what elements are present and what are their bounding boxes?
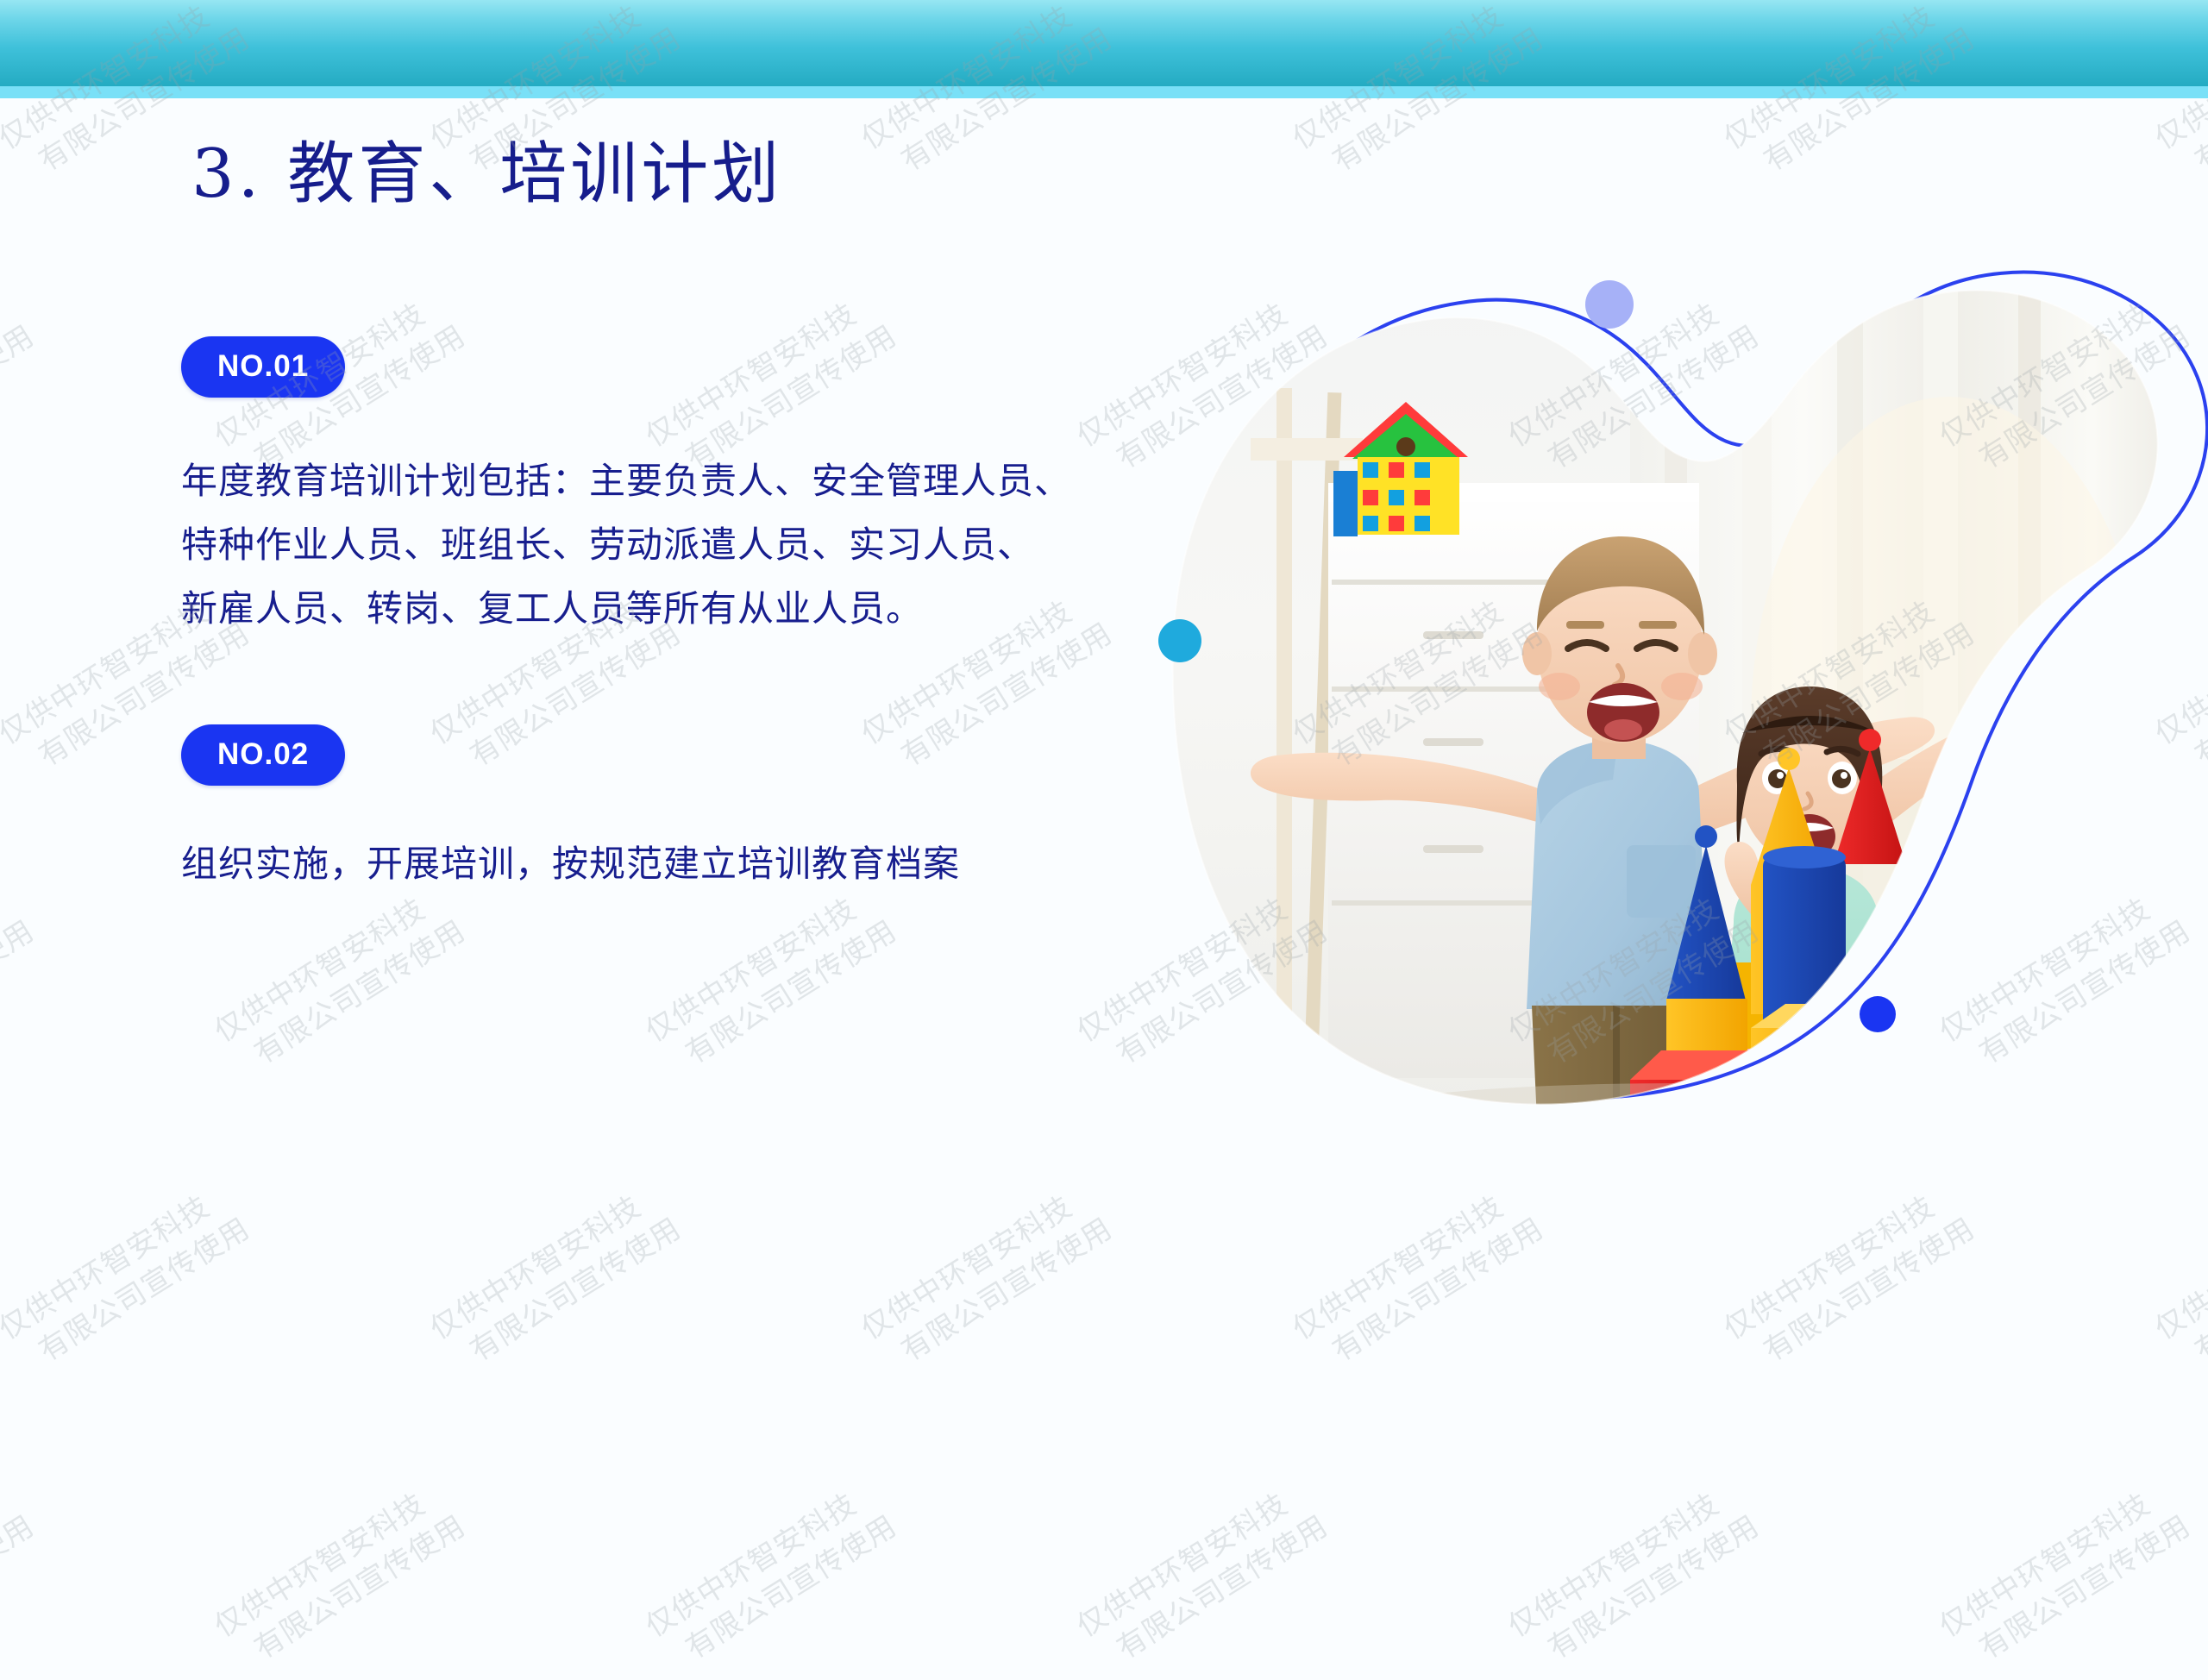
watermark-text: 仅供中环智安科技有限公司宣传使用: [1069, 1473, 1335, 1680]
watermark-text: 仅供中环智安科技有限公司宣传使用: [638, 878, 904, 1085]
content-text-2: 组织实施，开展培训，按规范建立培训教育档案: [181, 832, 960, 896]
watermark-text: 仅供中环智安科技有限公司宣传使用: [423, 1175, 688, 1382]
watermark-text: 仅供中环智安科技有限公司宣传使用: [1285, 1175, 1551, 1382]
cyan-circle-icon: [1158, 619, 1201, 662]
badge-no-01[interactable]: NO.01: [181, 336, 345, 398]
watermark-text: 仅供中环智安科技有限公司宣传使用: [0, 283, 41, 490]
watermark-text: 仅供中环智安科技有限公司宣传使用: [638, 1473, 904, 1680]
top-gradient-banner: [0, 0, 2208, 86]
watermark-text: 仅供中环智安科技有限公司宣传使用: [207, 878, 473, 1085]
page-title: 3. 教育、培训计划: [191, 138, 782, 212]
watermark-text: 仅供中环智安科技有限公司宣传使用: [0, 1473, 41, 1680]
watermark-text: 仅供中环智安科技有限公司宣传使用: [1501, 1473, 1766, 1680]
content-block-1: NO.01 年度教育培训计划包括：主要负责人、安全管理人员、 特种作业人员、班组…: [181, 336, 1071, 641]
watermark-text: 仅供中环智安科技有限公司宣传使用: [854, 1175, 1120, 1382]
decorative-photo-graphic: [1147, 241, 2208, 1121]
watermark-text: 仅供中环智安科技有限公司宣传使用: [0, 1175, 257, 1382]
top-banner-underline: [0, 86, 2208, 98]
watermark-text: 仅供中环智安科技有限公司宣传使用: [207, 1473, 473, 1680]
blob-photo-svg: [1147, 241, 2208, 1121]
content-block-2: NO.02 组织实施，开展培训，按规范建立培训教育档案: [181, 724, 960, 896]
watermark-text: 仅供中环智安科技有限公司宣传使用: [1716, 1175, 1982, 1382]
badge-no-02[interactable]: NO.02: [181, 724, 345, 786]
watermark-text: 仅供中环智安科技有限公司宣传使用: [1932, 1473, 2198, 1680]
blue-circle-icon: [1860, 996, 1896, 1032]
children-photo: [1147, 241, 2208, 1199]
periwinkle-circle-icon: [1585, 280, 1634, 329]
content-text-1: 年度教育培训计划包括：主要负责人、安全管理人员、 特种作业人员、班组长、劳动派遣…: [181, 449, 1071, 641]
watermark-text: 仅供中环智安科技有限公司宣传使用: [0, 878, 41, 1085]
watermark-text: 仅供中环智安科技有限公司宣传使用: [2148, 1175, 2208, 1382]
